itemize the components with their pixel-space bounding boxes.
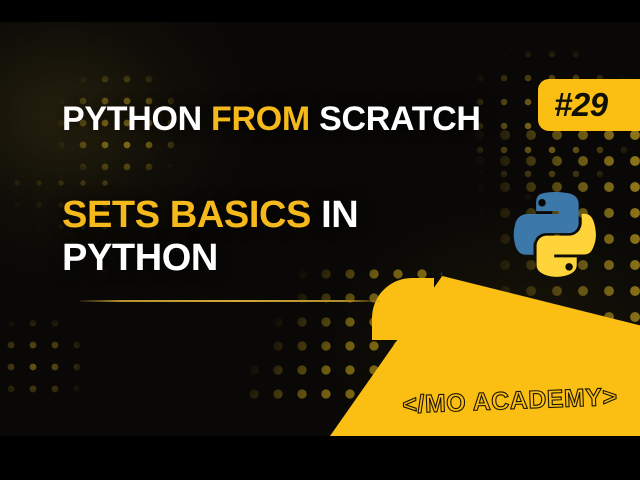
series-title-suffix: SCRATCH — [319, 100, 481, 138]
series-title-highlight: FROM — [211, 100, 319, 138]
python-logo-icon — [507, 185, 603, 281]
headline-highlight: SETS BASICS — [62, 194, 321, 236]
series-title-prefix: PYTHON — [62, 100, 211, 138]
series-title: PYTHON FROM SCRATCH — [62, 100, 481, 139]
episode-badge: #29 — [538, 79, 640, 131]
video-thumbnail: </MO ACADEMY> PYTHON FROM SCRATCH #29 SE… — [0, 0, 640, 480]
dot-pattern-left-lower — [0, 312, 110, 422]
episode-badge-label: #29 — [554, 86, 608, 124]
title-divider — [80, 300, 380, 302]
page-title: SETS BASICS IN PYTHON — [62, 194, 492, 280]
thumbnail-content-frame: </MO ACADEMY> PYTHON FROM SCRATCH #29 SE… — [0, 22, 640, 436]
brand-shape-corner — [372, 278, 434, 340]
